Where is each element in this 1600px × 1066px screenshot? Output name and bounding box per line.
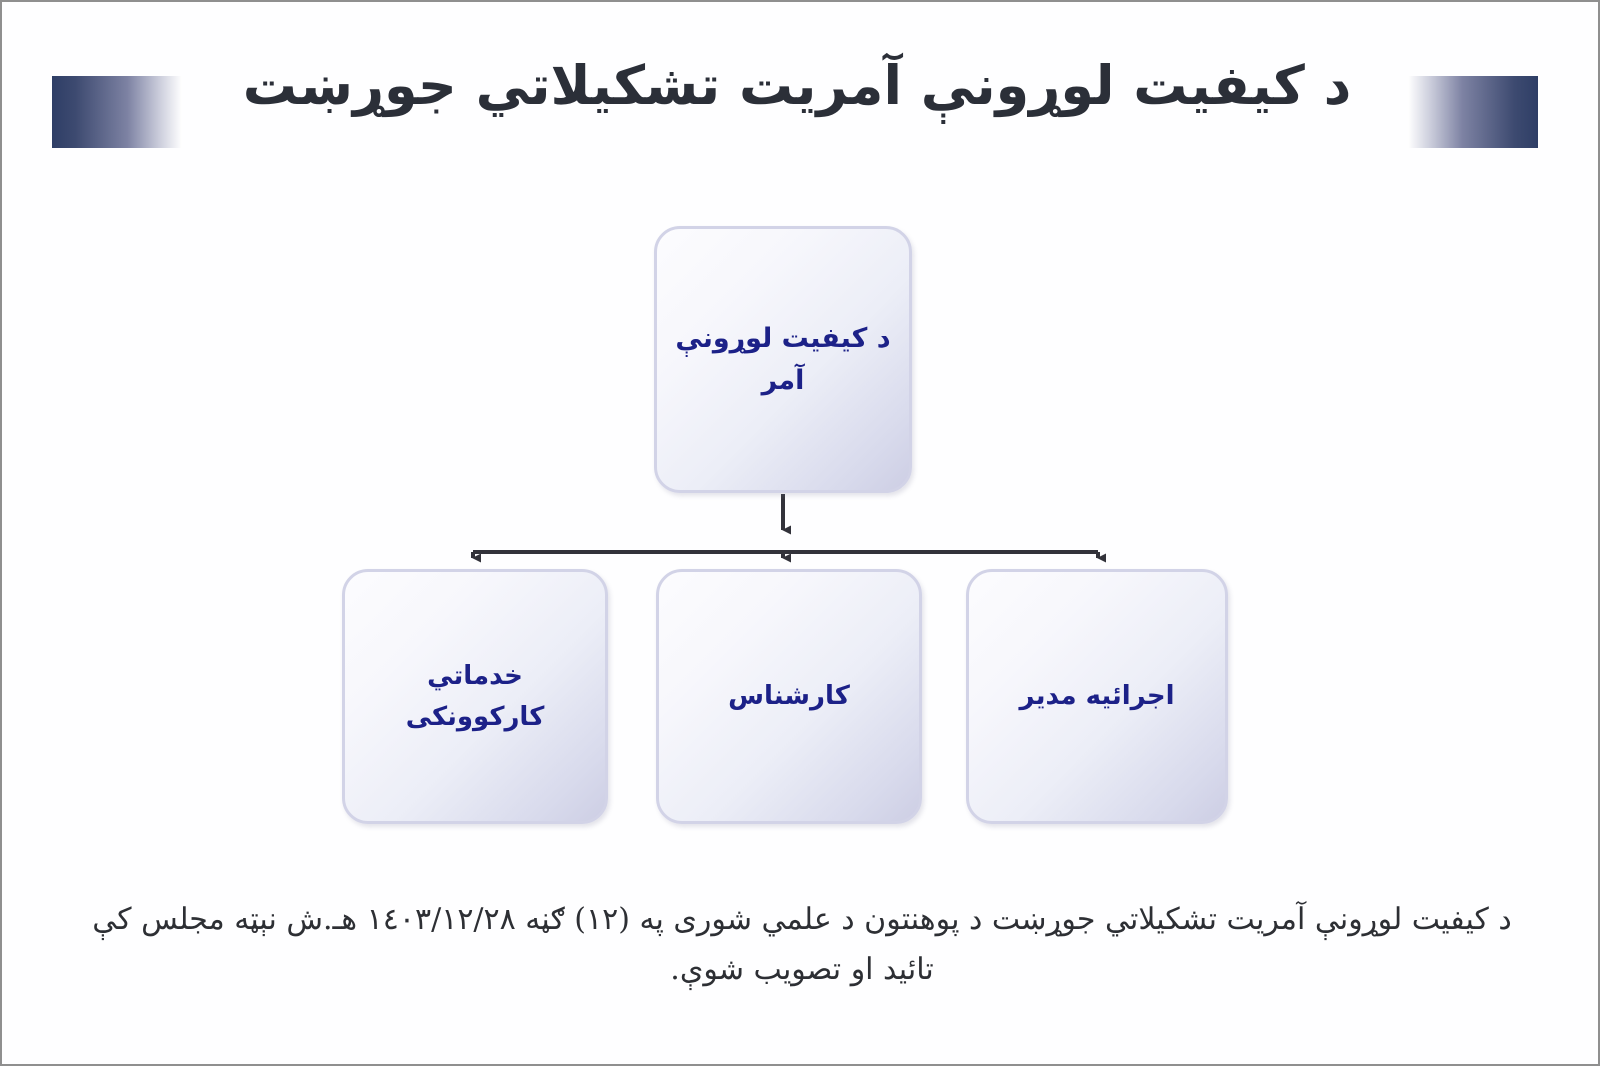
footer-caption: د کیفیت لوړونې آمریت تشکیلاتي جوړښت د پو… bbox=[62, 895, 1542, 994]
org-node-child-2-label: کارشناس bbox=[714, 676, 864, 716]
footer-line-2: تائید او تصویب شوې. bbox=[62, 945, 1542, 995]
org-node-child-1-label: خدماتي کارکوونکی bbox=[392, 656, 559, 737]
org-node-root-label: د کیفیت لوړونې آمر bbox=[661, 318, 904, 402]
slide-page: د کیفیت لوړونې آمریت تشکیلاتي جوړښت د کی… bbox=[0, 0, 1600, 1066]
org-node-ejraiya-mudir[interactable]: اجرائیه مدیر bbox=[966, 569, 1228, 824]
footer-line-1: د کیفیت لوړونې آمریت تشکیلاتي جوړښت د پو… bbox=[62, 895, 1542, 945]
org-node-khadamati-karkawunkay[interactable]: خدماتي کارکوونکی bbox=[342, 569, 608, 824]
org-node-child-3-label: اجرائیه مدیر bbox=[1006, 676, 1189, 716]
org-node-root[interactable]: د کیفیت لوړونې آمر bbox=[654, 226, 912, 493]
org-node-karshenas[interactable]: کارشناس bbox=[656, 569, 922, 824]
